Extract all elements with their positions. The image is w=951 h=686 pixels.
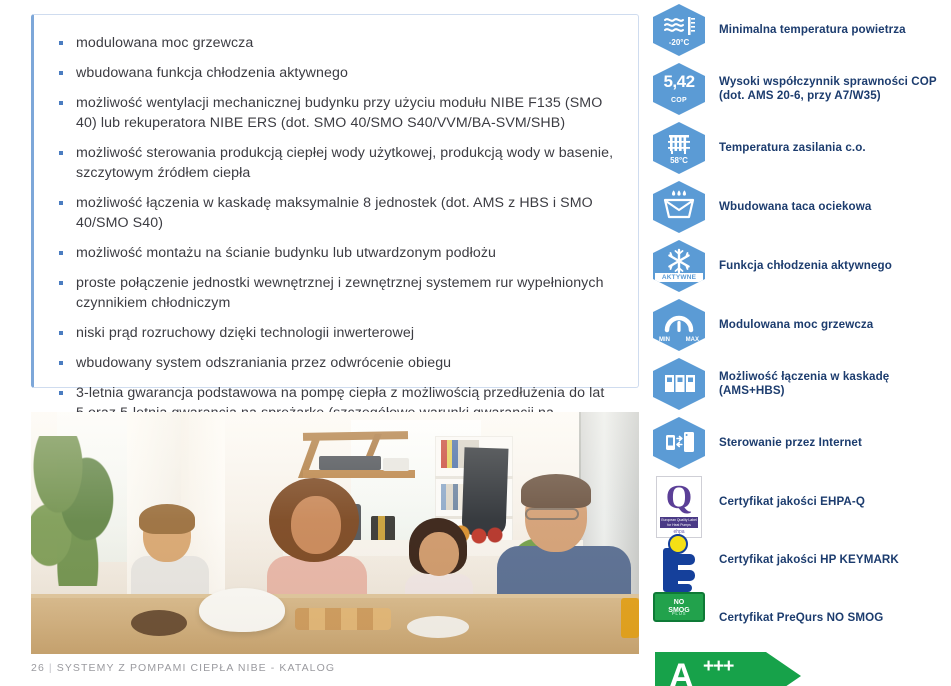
energy-class-plus: +++ [703, 656, 733, 678]
spec-row-cop: 5,42 COP Wysoki współczynnik sprawności … [653, 63, 943, 115]
list-item: wbudowany system odszraniania przez odwr… [52, 353, 616, 373]
spec-label: Modulowana moc grzewcza [719, 318, 873, 332]
spec-row-cascade: Możliwość łączenia w kaskadę (AMS+HBS) [653, 358, 943, 410]
hp-keymark-badge-icon [653, 534, 705, 586]
gauge-min-label: MIN [659, 337, 670, 343]
footer-page-number: 26 [31, 662, 45, 674]
cop-value: 5,42 [653, 72, 705, 92]
flow-temperature-value: 58°C [653, 156, 705, 165]
list-item: możliwość wentylacji mechanicznej budynk… [52, 93, 616, 133]
left-column: modulowana moc grzewcza wbudowana funkcj… [31, 14, 639, 388]
cert-label: Certyfikat jakości EHPA-Q [719, 495, 865, 509]
energy-class-block: A +++ Klasa energetyczna dot. AMS 20-6, … [655, 652, 943, 686]
snowflake-glyph [653, 240, 705, 292]
radiator-icon: 58°C [653, 122, 705, 174]
air-temperature-icon: -20°C [653, 4, 705, 56]
spec-sidebar: -20°C Minimalna temperatura powietrza 5,… [653, 4, 943, 686]
page-footer: 26|SYSTEMY Z POMPAMI CIEPŁA NIBE - KATAL… [31, 662, 335, 674]
spec-row-active-cooling: AKTYWNE Funkcja chłodzenia aktywnego [653, 240, 943, 292]
radiator-glyph [653, 122, 705, 174]
list-item: możliwość montażu na ścianie budynku lub… [52, 243, 616, 263]
modulation-gauge-icon: MIN MAX [653, 299, 705, 351]
snowflake-icon: AKTYWNE [653, 240, 705, 292]
energy-class-badge: A +++ [655, 652, 801, 686]
no-smog-badge-icon: NO SMOG PLUS [653, 592, 705, 644]
drip-tray-glyph [653, 181, 705, 233]
energy-class-letter: A [669, 655, 694, 686]
cascade-units-icon [653, 358, 705, 410]
spec-row-internet-control: Sterowanie przez Internet [653, 417, 943, 469]
cop-value-icon: 5,42 COP [653, 63, 705, 115]
photo-illustration [31, 412, 639, 654]
gauge-max-label: MAX [686, 337, 699, 343]
spec-row-min-air-temperature: -20°C Minimalna temperatura powietrza [653, 4, 943, 56]
gauge-range: MIN MAX [655, 337, 703, 343]
feature-list-box: modulowana moc grzewcza wbudowana funkcj… [31, 14, 639, 388]
cert-row-ehpa-q: Q European Quality Label for Heat Pumps … [653, 476, 943, 528]
spec-label: Wbudowana taca ociekowa [719, 200, 871, 214]
list-item: proste połączenie jednostki wewnętrznej … [52, 273, 616, 313]
list-item: niski prąd rozruchowy dzięki technologii… [52, 323, 616, 343]
active-cooling-badge: AKTYWNE [655, 273, 703, 282]
list-item: możliwość sterowania produkcją ciepłej w… [52, 143, 616, 183]
cert-row-hp-keymark: Certyfikat jakości HP KEYMARK [653, 534, 943, 586]
ehpa-q-bar: European Quality Label for Heat Pumps [660, 517, 698, 528]
drip-tray-icon [653, 181, 705, 233]
spec-label: Funkcja chłodzenia aktywnego [719, 259, 892, 273]
spec-label: Sterowanie przez Internet [719, 436, 862, 450]
air-temperature-value: -20°C [653, 38, 705, 47]
internet-control-icon [653, 417, 705, 469]
footer-separator: | [49, 662, 53, 674]
ehpa-q-letter: Q [661, 479, 697, 517]
cert-row-no-smog: NO SMOG PLUS Certyfikat PreQurs NO SMOG [653, 592, 943, 644]
cop-unit: COP [653, 97, 705, 104]
air-waves-glyph [653, 4, 705, 56]
cascade-units-glyph [653, 358, 705, 410]
cert-label: Certyfikat PreQurs NO SMOG [719, 611, 883, 625]
gauge-glyph [653, 299, 705, 351]
list-item: możliwość łączenia w kaskadę maksymalnie… [52, 193, 616, 233]
family-kitchen-photo [31, 412, 639, 654]
spec-row-flow-temperature: 58°C Temperatura zasilania c.o. [653, 122, 943, 174]
spec-label: Wysoki współczynnik sprawności COP (dot.… [719, 75, 943, 103]
spec-label: Minimalna temperatura powietrza [719, 23, 906, 37]
list-item: modulowana moc grzewcza [52, 33, 616, 53]
spec-row-modulation: MIN MAX Modulowana moc grzewcza [653, 299, 943, 351]
catalog-page: modulowana moc grzewcza wbudowana funkcj… [0, 0, 951, 686]
ehpa-q-bar-text: European Quality Label for Heat Pumps [660, 517, 698, 528]
spec-row-drip-tray: Wbudowana taca ociekowa [653, 181, 943, 233]
spec-label: Możliwość łączenia w kaskadę (AMS+HBS) [719, 370, 943, 398]
cert-label: Certyfikat jakości HP KEYMARK [719, 553, 899, 567]
no-smog-line1: NO [655, 599, 703, 607]
spec-label: Temperatura zasilania c.o. [719, 141, 866, 155]
footer-title: SYSTEMY Z POMPAMI CIEPŁA NIBE - KATALOG [57, 662, 335, 674]
internet-control-glyph [653, 417, 705, 469]
ehpa-q-badge-icon: Q European Quality Label for Heat Pumps … [653, 476, 705, 528]
list-item: wbudowana funkcja chłodzenia aktywnego [52, 63, 616, 83]
no-smog-line3: PLUS [655, 611, 703, 616]
